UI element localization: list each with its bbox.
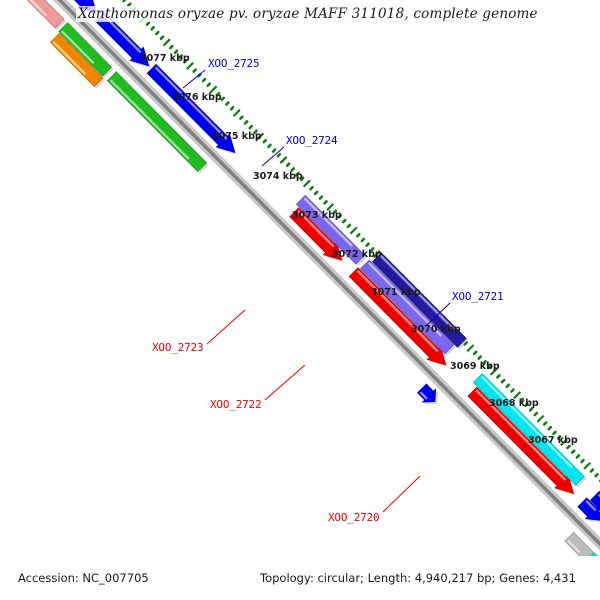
ruler-tick-label: 3070 kbp bbox=[411, 324, 461, 335]
genome-diagram-window: Xanthomonas oryzae pv. oryzae MAFF 31101… bbox=[0, 0, 600, 600]
ruler-tick-label: 3068 kbp bbox=[489, 398, 539, 409]
gene-feature[interactable] bbox=[361, 260, 456, 356]
genome-map-svg[interactable] bbox=[0, 0, 600, 556]
genome-stats-text: Topology: circular; Length: 4,940,217 bp… bbox=[260, 571, 576, 585]
ruler-tick-label: 3069 kbp bbox=[450, 361, 500, 372]
ruler-tick-label: 3071 kbp bbox=[371, 287, 421, 298]
ruler-tick-label: 3074 kbp bbox=[253, 171, 303, 182]
gene-feature[interactable] bbox=[107, 72, 208, 174]
genome-map-canvas[interactable] bbox=[0, 0, 600, 556]
gene-label-xoo_2725[interactable]: XOO_2725 bbox=[208, 57, 259, 70]
genome-backbone[interactable] bbox=[0, 0, 600, 556]
feature-layer[interactable] bbox=[0, 0, 600, 556]
gene-label-xoo_2722[interactable]: XOO_2722 bbox=[210, 398, 261, 411]
ruler-tick-label: 3072 kbp bbox=[332, 249, 382, 260]
ruler-tick-label: 3073 kbp bbox=[292, 210, 342, 221]
gene-label-xoo_2724[interactable]: XOO_2724 bbox=[286, 134, 337, 147]
gene-feature[interactable] bbox=[418, 384, 438, 404]
ruler-tick-label: 3075 kbp bbox=[212, 131, 262, 142]
ruler-tick-label: 3076 kbp bbox=[172, 92, 222, 103]
accession-text: Accession: NC_007705 bbox=[18, 571, 149, 585]
ruler-track bbox=[0, 0, 600, 556]
gene-label-xoo_2721[interactable]: XOO_2721 bbox=[452, 290, 503, 303]
gene-label-xoo_2720[interactable]: XOO_2720 bbox=[328, 511, 379, 524]
ruler-tick-label: 3067 kbp bbox=[528, 435, 578, 446]
genome-title: Xanthomonas oryzae pv. oryzae MAFF 31101… bbox=[76, 6, 540, 22]
gene-label-xoo_2723[interactable]: XOO_2723 bbox=[152, 341, 203, 354]
ruler-tick-label: 3077 kbp bbox=[140, 53, 190, 64]
